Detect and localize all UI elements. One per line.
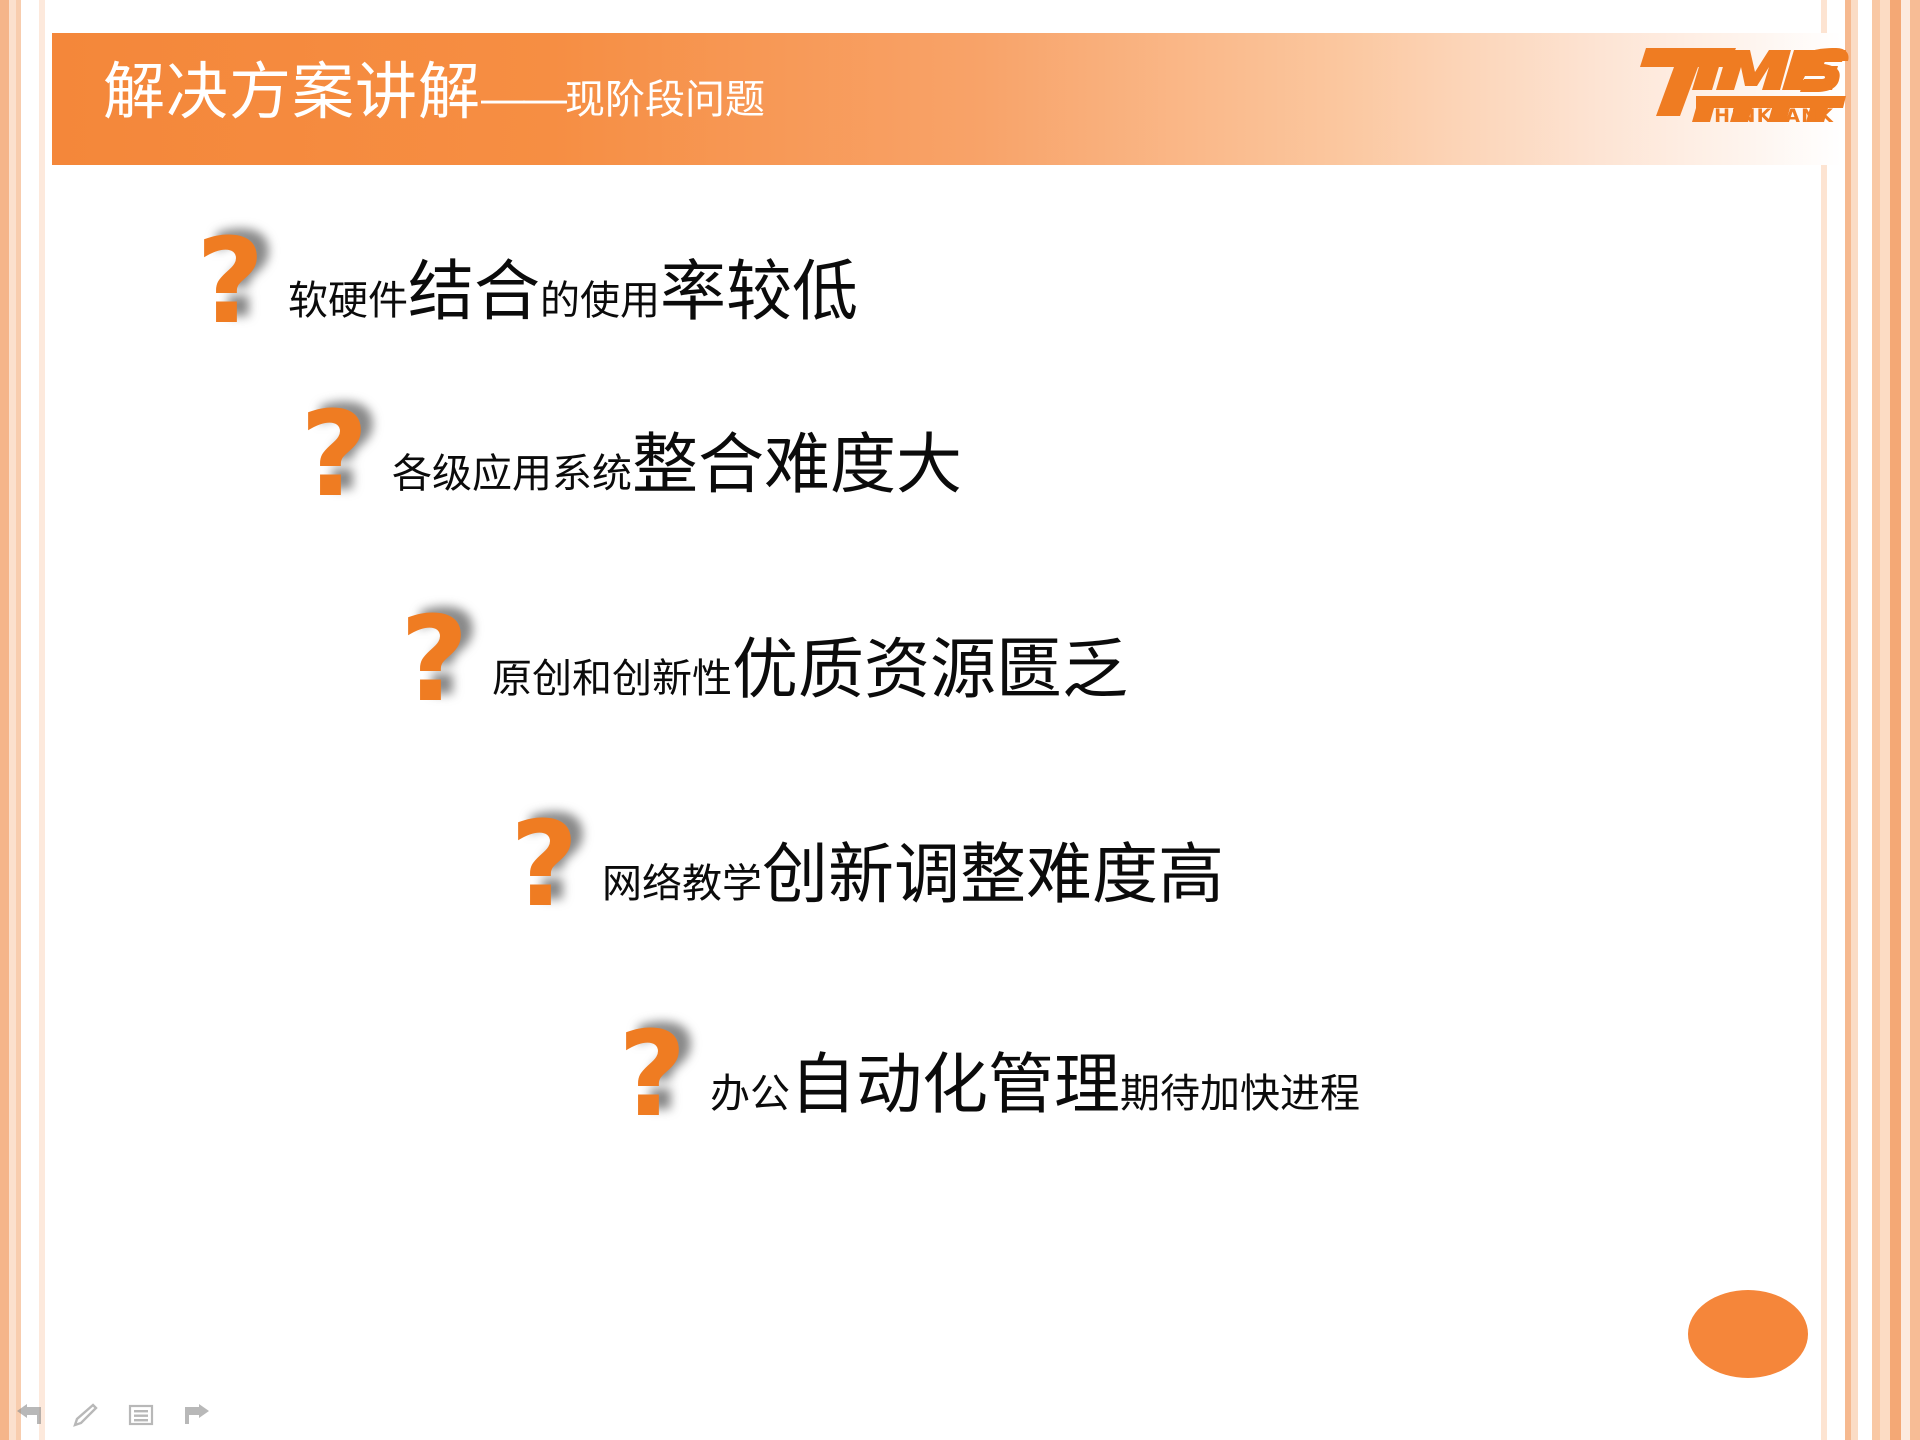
question-mark-icon: ? ? [196, 212, 282, 330]
page-title-main: 解决方案讲解 [103, 58, 481, 127]
svg-text:THINKTANK: THINKTANK [1700, 105, 1834, 127]
page-title: 解决方案讲解——现阶段问题 [103, 62, 765, 124]
question-mark-icon: ? ? [510, 795, 596, 913]
list-item: ? ? 软硬件结合的使用率较低 [196, 212, 858, 330]
list-item-text-small-1: 办公 [710, 1072, 790, 1116]
list-item-text: 各级应用系统整合难度大 [392, 430, 962, 503]
list-item-text-large-1: 创新调整难度高 [762, 837, 1224, 911]
next-arrow-icon[interactable] [182, 1402, 212, 1428]
bullet-list: ? ? 软硬件结合的使用率较低 ? ? 各级应用系统整合难度大 ? ? 原创和创… [0, 190, 1920, 1090]
list-item-text-small-2: 的使用 [540, 279, 660, 323]
list-item-text-small-1: 原创和创新性 [492, 657, 732, 701]
question-mark-icon: ? ? [300, 385, 386, 503]
list-item-text-large-1: 整合难度大 [632, 427, 962, 501]
question-mark-icon-glyph: ? [618, 1015, 686, 1133]
menu-icon[interactable] [126, 1402, 156, 1428]
question-mark-icon: ? ? [400, 590, 486, 708]
corner-accent-circle [1688, 1290, 1808, 1378]
page-title-dash: —— [481, 74, 565, 123]
page-title-sub: 现阶段问题 [565, 78, 765, 122]
list-item-text: 办公自动化管理期待加快进程 [710, 1050, 1360, 1123]
question-mark-icon-glyph: ? [510, 805, 578, 923]
list-item-text-large-1: 优质资源匮乏 [732, 632, 1128, 706]
list-item-text-small-3: 期待加快进程 [1120, 1072, 1360, 1116]
slideshow-navbar[interactable] [14, 1402, 212, 1428]
times-thinktank-logo: THINKTANK [1640, 40, 1850, 128]
list-item: ? ? 网络教学创新调整难度高 [510, 795, 1224, 913]
list-item-text: 原创和创新性优质资源匮乏 [492, 635, 1128, 708]
list-item-text-small-1: 软硬件 [288, 279, 408, 323]
list-item: ? ? 办公自动化管理期待加快进程 [618, 1005, 1360, 1123]
previous-arrow-icon[interactable] [14, 1402, 44, 1428]
list-item-text: 软硬件结合的使用率较低 [288, 257, 858, 330]
pen-icon[interactable] [70, 1402, 100, 1428]
slide-canvas: 解决方案讲解——现阶段问题 THINKTANK ? [0, 0, 1920, 1440]
list-item: ? ? 原创和创新性优质资源匮乏 [400, 590, 1128, 708]
question-mark-icon: ? ? [618, 1005, 704, 1123]
list-item-text-small-1: 各级应用系统 [392, 452, 632, 496]
list-item-text-large-2: 率较低 [660, 254, 858, 328]
list-item-text-large-1: 结合 [408, 254, 540, 328]
question-mark-icon-glyph: ? [196, 222, 264, 340]
question-mark-icon-glyph: ? [300, 395, 368, 513]
list-item-text-large-1: 自动化管理 [790, 1047, 1120, 1121]
question-mark-icon-glyph: ? [400, 600, 468, 718]
list-item: ? ? 各级应用系统整合难度大 [300, 385, 962, 503]
list-item-text-small-1: 网络教学 [602, 862, 762, 906]
list-item-text: 网络教学创新调整难度高 [602, 840, 1224, 913]
